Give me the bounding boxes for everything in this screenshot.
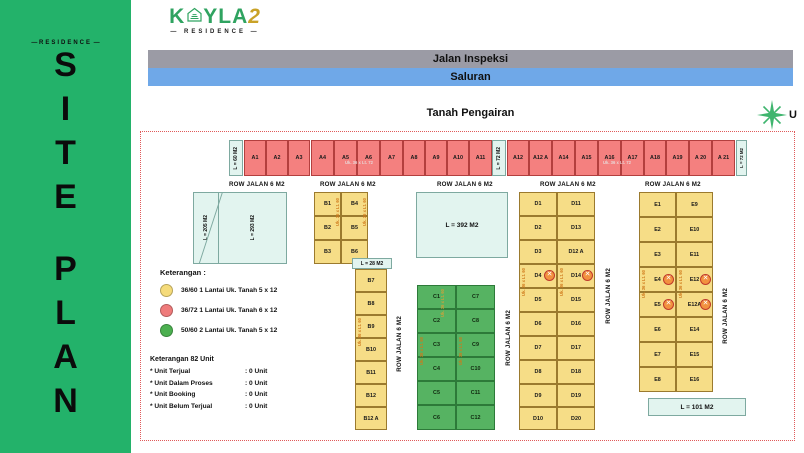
plot-a10[interactable]: A10 <box>447 140 469 176</box>
units-key-booking: * Unit Booking <box>150 391 245 398</box>
plot-a9[interactable]: A9 <box>425 140 447 176</box>
legend-item-36-60: 36/60 1 Lantai Uk. Tanah 5 x 12 <box>160 284 335 297</box>
plot-e8[interactable]: E8 <box>639 367 676 392</box>
plot-b12a[interactable]: B12 A <box>355 407 387 430</box>
legend: Keterangan : 36/60 1 Lantai Uk. Tanah 5 … <box>160 268 335 344</box>
legend-item-36-72: 36/72 1 Lantai Uk. Tanah 6 x 12 <box>160 304 335 317</box>
plot-a21[interactable]: A 21 <box>712 140 735 176</box>
legend-swatch-green <box>160 324 173 337</box>
banner-letter-e: E <box>0 180 131 214</box>
plot-a15[interactable]: A15 <box>575 140 598 176</box>
logo: KYLA2 — RESIDENCE — <box>145 6 285 35</box>
plot-a1[interactable]: A1 <box>244 140 266 176</box>
legend-label-36-60: 36/60 1 Lantai Uk. Tanah 5 x 12 <box>181 287 277 294</box>
plot-d6[interactable]: D6 <box>519 312 557 336</box>
dimension-c-right: Uk. 36 x Lt. 60 <box>458 337 463 365</box>
units-row-booking: * Unit Booking : 0 Unit <box>150 391 340 398</box>
band-saluran: Saluran <box>148 68 793 86</box>
plot-d2[interactable]: D2 <box>519 216 557 240</box>
plot-d7[interactable]: D7 <box>519 336 557 360</box>
area-a-left: L = 60 M2 <box>229 140 243 176</box>
dimension-e-left: Uk. 36 x Lt. 60 <box>641 270 646 298</box>
sold-mark-e4: ✕ <box>663 274 674 285</box>
plot-e14[interactable]: E14 <box>676 317 713 342</box>
logo-letters-yla: YLA <box>203 5 248 28</box>
label-tanah-pengairan: Tanah Pengairan <box>148 107 793 119</box>
legend-label-36-72: 36/72 1 Lantai Uk. Tanah 6 x 12 <box>181 307 277 314</box>
plot-c11[interactable]: C11 <box>456 381 495 405</box>
row-jalan-h-2: ROW JALAN 6 M2 <box>320 181 376 188</box>
plot-d10[interactable]: D10 <box>519 407 557 430</box>
plot-d19[interactable]: D19 <box>557 384 595 407</box>
legend-label-50-60: 50/60 2 Lantai Uk. Tanah 5 x 12 <box>181 327 277 334</box>
parcel-392-label: L = 392 M2 <box>446 222 479 229</box>
plot-d17[interactable]: D17 <box>557 336 595 360</box>
left-banner: — RESIDENCE — S I T E P L A N <box>0 0 131 453</box>
plot-c8[interactable]: C8 <box>456 309 495 333</box>
plot-d12a[interactable]: D12 A <box>557 240 595 264</box>
dimension-e-right: Uk. 36 x Lt. 60 <box>678 270 683 298</box>
plot-e2[interactable]: E2 <box>639 217 676 242</box>
parcel-101: L = 101 M2 <box>648 398 746 416</box>
units-summary: Keterangan 82 Unit * Unit Terjual : 0 Un… <box>150 356 340 414</box>
plot-b7[interactable]: B7 <box>355 269 387 292</box>
plot-e9[interactable]: E9 <box>676 192 713 217</box>
row-jalan-v-2: ROW JALAN 6 M2 <box>505 310 512 366</box>
plot-c1[interactable]: C1 <box>417 285 456 309</box>
dimension-b-top-2: Uk. 36 x Lt. 60 <box>362 198 367 226</box>
plot-a17[interactable]: A17 <box>621 140 644 176</box>
plot-d8[interactable]: D8 <box>519 360 557 384</box>
row-jalan-v-1: ROW JALAN 6 M2 <box>396 316 403 372</box>
plot-a11[interactable]: A11 <box>469 140 492 176</box>
legend-title: Keterangan : <box>160 268 335 277</box>
plot-a4[interactable]: A4 <box>311 140 334 176</box>
dimension-d-right: Uk. 36 x Lt. 60 <box>559 268 564 296</box>
plot-e1[interactable]: E1 <box>639 192 676 217</box>
units-key-terjual: * Unit Terjual <box>150 368 245 375</box>
sold-mark-d4: ✕ <box>544 270 555 281</box>
plot-c7[interactable]: C7 <box>456 285 495 309</box>
logo-subtitle: — RESIDENCE — <box>145 29 285 35</box>
plot-e10[interactable]: E10 <box>676 217 713 242</box>
plot-e11[interactable]: E11 <box>676 242 713 267</box>
row-jalan-v-3: ROW JALAN 6 M2 <box>605 268 612 324</box>
banner-letter-p: P <box>0 252 131 286</box>
compass-label-utara: U <box>789 109 797 121</box>
row-jalan-h-1: ROW JALAN 6 M2 <box>229 181 285 188</box>
legend-swatch-yellow <box>160 284 173 297</box>
units-val-terjual: : 0 Unit <box>245 368 305 375</box>
banner-letter-t: T <box>0 136 131 170</box>
banner-letter-i: I <box>0 92 131 126</box>
dimension-c-left: Uk. 36 x Lt. 60 <box>419 337 424 365</box>
plot-d3[interactable]: D3 <box>519 240 557 264</box>
parcel-392: L = 392 M2 <box>416 192 508 258</box>
plot-e16[interactable]: E16 <box>676 367 713 392</box>
plot-d16[interactable]: D16 <box>557 312 595 336</box>
dimension-d-left: Uk. 36 x Lt. 60 <box>521 268 526 296</box>
banner-letter-a: A <box>0 340 131 374</box>
units-key-dalam-proses: * Unit Dalam Proses <box>150 380 245 387</box>
plot-d9[interactable]: D9 <box>519 384 557 407</box>
plot-a14[interactable]: A14 <box>552 140 575 176</box>
units-val-dalam-proses: : 0 Unit <box>245 380 305 387</box>
plot-a7[interactable]: A7 <box>380 140 403 176</box>
plot-a20[interactable]: A 20 <box>689 140 712 176</box>
plot-e15[interactable]: E15 <box>676 342 713 367</box>
dimension-b-lower: Uk. 36 x Lt. 60 <box>357 318 362 346</box>
plot-c2[interactable]: C2 <box>417 309 456 333</box>
plot-c5[interactable]: C5 <box>417 381 456 405</box>
plot-a12[interactable]: A12 <box>507 140 529 176</box>
parcel-28: L = 28 M2 <box>352 258 392 269</box>
units-row-belum-terjual: * Unit Belum Terjual : 0 Unit <box>150 403 340 410</box>
site-plan-root: — RESIDENCE — S I T E P L A N KYLA2 — RE… <box>0 0 804 453</box>
banner-letter-s: S <box>0 48 131 82</box>
banner-letter-l: L <box>0 296 131 330</box>
plot-d1[interactable]: D1 <box>519 192 557 216</box>
plot-d13[interactable]: D13 <box>557 216 595 240</box>
row-jalan-h-5: ROW JALAN 6 M2 <box>645 181 701 188</box>
row-jalan-h-4: ROW JALAN 6 M2 <box>540 181 596 188</box>
plot-a18[interactable]: A18 <box>644 140 666 176</box>
plot-a5[interactable]: A5 <box>334 140 357 176</box>
legend-swatch-red <box>160 304 173 317</box>
house-icon <box>185 6 203 28</box>
sold-mark-e5: ✕ <box>663 299 674 310</box>
sold-mark-e12: ✕ <box>700 274 711 285</box>
plot-b8[interactable]: B8 <box>355 292 387 315</box>
plot-d18[interactable]: D18 <box>557 360 595 384</box>
dimension-b-top: Uk. 36 x Lt. 60 <box>335 198 340 226</box>
dimension-c-top: Uk. 36 x Lt. 60 <box>440 289 445 317</box>
row-jalan-v-4: ROW JALAN 6 M2 <box>722 288 729 344</box>
plot-a2[interactable]: A2 <box>266 140 288 176</box>
plot-c6[interactable]: C6 <box>417 405 456 430</box>
dimension-a-row: Uk. 36 x Lt. 72 <box>345 160 373 165</box>
row-jalan-h-3: ROW JALAN 6 M2 <box>437 181 493 188</box>
plot-c12[interactable]: C12 <box>456 405 495 430</box>
area-a-right: L = 72 M2 <box>736 140 747 176</box>
units-val-booking: : 0 Unit <box>245 391 305 398</box>
units-val-belum-terjual: : 0 Unit <box>245 403 305 410</box>
logo-number-2: 2 <box>248 5 261 28</box>
plot-e3[interactable]: E3 <box>639 242 676 267</box>
banner-letter-n: N <box>0 384 131 418</box>
logo-letter-k: K <box>169 5 185 28</box>
plot-b3[interactable]: B3 <box>314 240 341 264</box>
logo-wordmark: KYLA2 <box>145 6 285 28</box>
plot-e6[interactable]: E6 <box>639 317 676 342</box>
area-a-mid: L = 72 M2 <box>492 140 506 176</box>
plot-b12[interactable]: B12 <box>355 384 387 407</box>
plot-a19[interactable]: A19 <box>666 140 689 176</box>
sold-mark-e12a: ✕ <box>700 299 711 310</box>
units-row-dalam-proses: * Unit Dalam Proses : 0 Unit <box>150 380 340 387</box>
plot-a12a[interactable]: A12 A <box>529 140 552 176</box>
parcel-293: L = 293 M2 <box>219 192 287 264</box>
units-summary-title: Keterangan 82 Unit <box>150 356 340 363</box>
plot-b11[interactable]: B11 <box>355 361 387 384</box>
plot-a3[interactable]: A3 <box>288 140 310 176</box>
plot-a8[interactable]: A8 <box>403 140 425 176</box>
plot-a16[interactable]: A16 <box>598 140 621 176</box>
parcel-205: L = 205 M2 <box>193 192 219 264</box>
plot-e7[interactable]: E7 <box>639 342 676 367</box>
compass-star-icon <box>757 100 787 130</box>
sold-mark-d14: ✕ <box>582 270 593 281</box>
units-key-belum-terjual: * Unit Belum Terjual <box>150 403 245 410</box>
units-row-terjual: * Unit Terjual : 0 Unit <box>150 368 340 375</box>
plot-d11[interactable]: D11 <box>557 192 595 216</box>
plot-d20[interactable]: D20 <box>557 407 595 430</box>
plot-a6[interactable]: A6 <box>357 140 380 176</box>
dimension-a-row-2: Uk. 36 x Lt. 72 <box>603 160 631 165</box>
legend-item-50-60: 50/60 2 Lantai Uk. Tanah 5 x 12 <box>160 324 335 337</box>
band-jalan-inspeksi: Jalan Inspeksi <box>148 50 793 68</box>
